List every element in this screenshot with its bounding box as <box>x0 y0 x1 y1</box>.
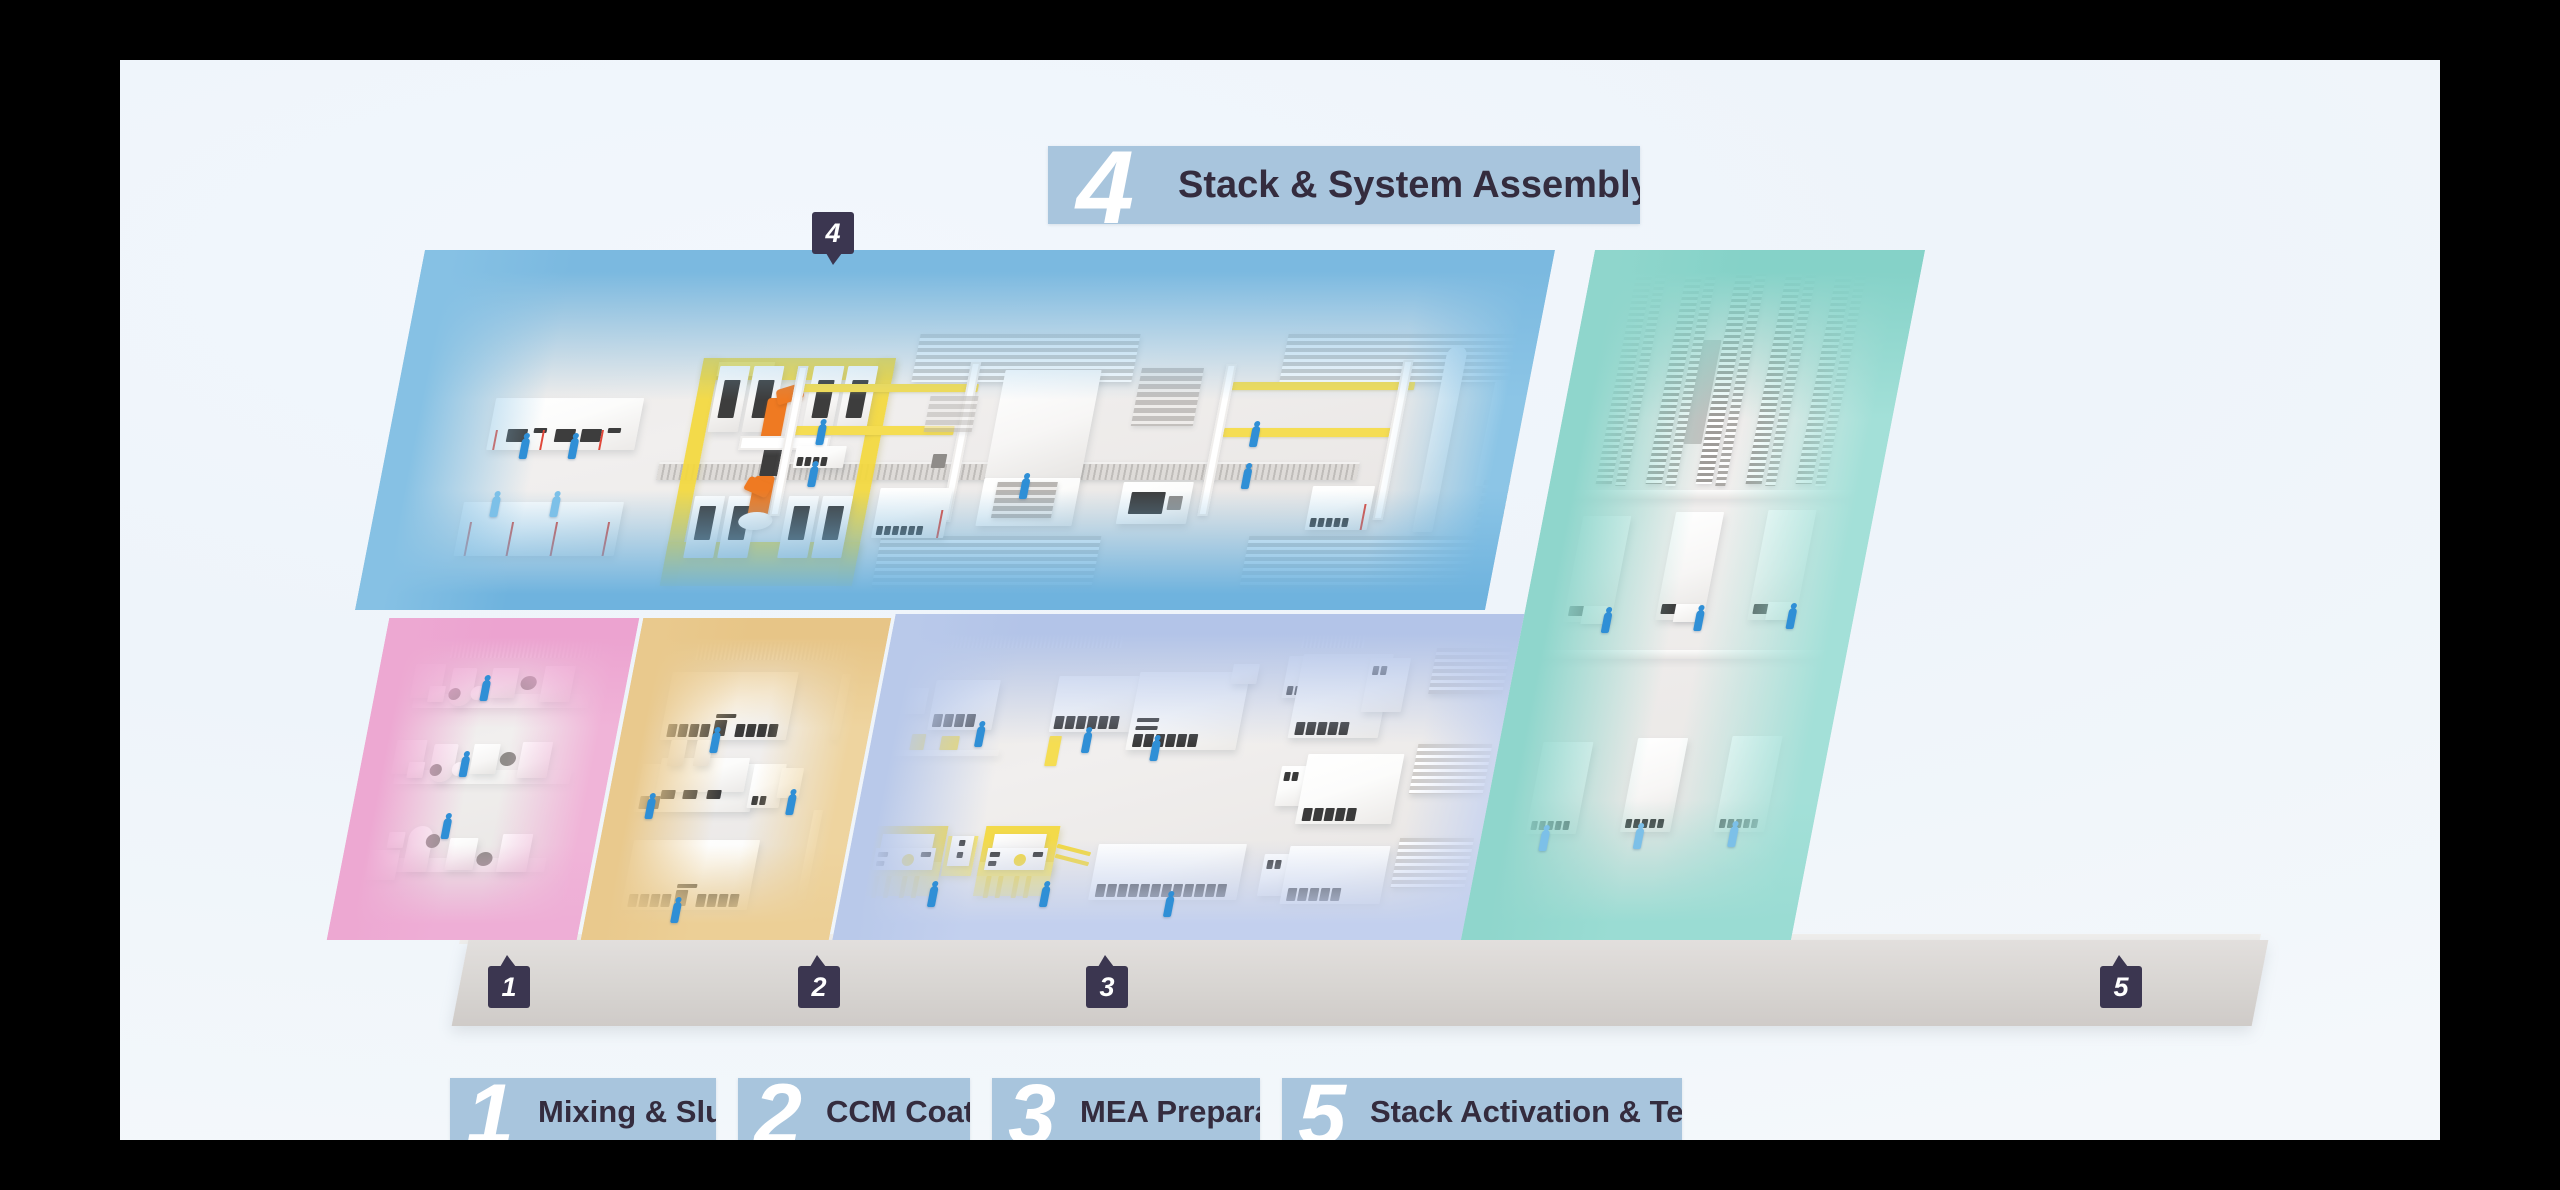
zone-3-mea-preparation <box>832 614 1555 940</box>
screenshot-root: 4 Stack & System Assembly <box>0 0 2560 1190</box>
mea-assembly-line <box>1088 844 1247 900</box>
storage-rack <box>1279 334 1518 382</box>
legend-label-1: Mixing & Slurrying <box>538 1094 716 1130</box>
machine-module <box>1305 486 1376 530</box>
coater-line <box>660 672 799 740</box>
title-label: Stack & System Assembly <box>1178 164 1640 207</box>
zone-marker-2[interactable]: 2 <box>798 966 840 1008</box>
legend-label-3: MEA Preparation <box>1080 1094 1260 1130</box>
floor-slab <box>452 940 2269 1026</box>
storage-rack <box>1409 744 1493 794</box>
work-bench <box>793 446 847 468</box>
zone-marker-1[interactable]: 1 <box>488 966 530 1008</box>
zone-marker-3[interactable]: 3 <box>1086 966 1128 1008</box>
legend-number-2: 2 <box>742 1081 812 1140</box>
control-box <box>900 688 929 714</box>
legend-item-2[interactable]: 2 CCM Coating <box>738 1078 970 1140</box>
machine-module <box>1049 676 1140 732</box>
legend-item-3[interactable]: 3 MEA Preparation <box>992 1078 1260 1140</box>
overhead-rail <box>1228 382 1416 390</box>
mixer-tank <box>364 850 400 880</box>
cabinet-block <box>454 502 624 556</box>
storage-rack <box>871 536 1101 588</box>
legend-label-5: Stack Activation & Test Station <box>1370 1094 1682 1130</box>
overhead-rail <box>797 384 979 392</box>
zone-5-shelf <box>1561 490 1863 499</box>
plate-stack <box>1131 368 1204 426</box>
mea-line <box>1295 754 1405 824</box>
cabinet-block <box>486 398 644 450</box>
title-number: 4 <box>1056 146 1152 224</box>
title-chip: 4 Stack & System Assembly <box>1048 146 1640 224</box>
coater-line <box>621 840 761 910</box>
zone-5-shelf <box>1530 650 1832 659</box>
pump-unit <box>427 686 446 702</box>
machine-module <box>927 680 1001 730</box>
zone-4-assembly-hall <box>355 250 1555 610</box>
machine-module <box>1116 482 1194 524</box>
zone-marker-4[interactable]: 4 <box>812 212 854 254</box>
legend-item-1[interactable]: 1 Mixing & Slurrying <box>450 1078 716 1140</box>
overhead-rail <box>1223 428 1393 437</box>
diagram-canvas: 4 Stack & System Assembly <box>120 60 2440 1140</box>
legend-label-2: CCM Coating <box>826 1094 970 1130</box>
storage-rack <box>1428 648 1511 694</box>
pump-unit <box>406 762 425 778</box>
pump-unit <box>387 832 406 848</box>
zone-marker-5[interactable]: 5 <box>2100 966 2142 1008</box>
mea-line <box>1279 846 1390 904</box>
factory-floor-plan: 4 1 2 3 5 <box>320 250 2340 1040</box>
legend-number-1: 1 <box>454 1081 524 1140</box>
legend-number-3: 3 <box>996 1081 1066 1140</box>
legend-item-5[interactable]: 5 Stack Activation & Test Station <box>1282 1078 1682 1140</box>
storage-rack <box>1239 536 1479 588</box>
machine-module <box>1230 664 1260 684</box>
legend: 1 Mixing & Slurrying 2 CCM Coating 3 MEA… <box>450 1078 1682 1140</box>
machine-module <box>871 488 953 538</box>
legend-number-5: 5 <box>1286 1081 1356 1140</box>
storage-rack <box>1390 838 1474 888</box>
